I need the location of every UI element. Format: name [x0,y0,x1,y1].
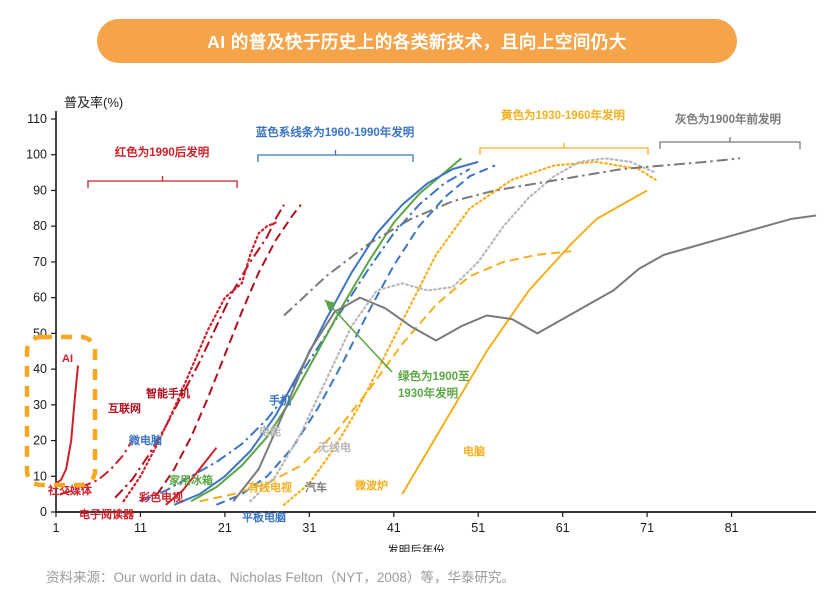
series-line-电脑 [402,190,647,494]
bracket-yellow-group [480,148,648,155]
y-tick-label: 100 [26,148,47,162]
technology-adoption-line-chart: 0102030405060708090100110111213141516171… [0,92,831,552]
x-tick-label: 71 [640,521,654,535]
series-label-平板电脑: 平板电脑 [242,510,286,524]
series-line-AI [56,366,78,484]
series-label-智能手机: 智能手机 [146,386,190,400]
series-line-微电脑 [140,169,469,501]
series-label-无线电: 无线电 [317,440,351,454]
source-footnote: 资料来源：Our world in data、Nicholas Felton（N… [46,566,515,586]
annotation-green-group-line2: 1930年发明 [398,386,458,400]
y-tick-label: 30 [33,398,47,412]
x-tick-label: 1 [53,521,60,535]
y-tick-label: 90 [33,183,47,197]
series-line-无线电 [250,158,655,501]
x-tick-label: 51 [471,521,485,535]
series-label-互联网: 互联网 [108,401,141,415]
series-label-微波炉: 微波炉 [354,478,388,492]
y-axis-title: 普及率(%) [64,95,123,110]
annotation-gray-group: 灰色为1900年前发明 [675,112,781,126]
slide-root: AI 的普及快于历史上的各类新技术，且向上空间仍大 01020304050607… [0,0,831,605]
page-title: AI 的普及快于历史上的各类新技术，且向上空间仍大 [207,29,627,54]
annotation-red-group: 红色为1990后发明 [115,145,210,159]
series-label-AI: AI [62,353,73,365]
series-line-智能手机 [157,205,301,494]
series-line-电能 [216,165,495,504]
x-tick-label: 31 [302,521,316,535]
y-tick-label: 70 [33,255,47,269]
x-tick-label: 21 [218,521,232,535]
series-label-彩色电视: 彩色电视 [138,490,183,504]
y-tick-label: 80 [33,219,47,233]
bracket-blue-group [258,155,413,162]
x-axis-title: 发明后年份 [387,543,445,552]
y-tick-label: 60 [33,291,47,305]
series-label-电能: 电能 [259,424,281,438]
y-tick-label: 0 [40,505,47,519]
series-label-有线电视: 有线电视 [248,480,292,494]
annotation-yellow-group: 黄色为1930-1960年发明 [501,108,625,122]
bracket-red-group [88,181,237,188]
y-tick-label: 110 [27,112,47,126]
series-label-微电脑: 微电脑 [128,433,162,447]
slide-title-pill: AI 的普及快于历史上的各类新技术，且向上空间仍大 [97,19,737,63]
x-tick-label: 81 [725,521,739,535]
series-line-电话 [284,158,740,315]
y-tick-label: 40 [33,362,47,376]
series-label-汽车: 汽车 [305,480,327,494]
y-tick-label: 20 [33,434,47,448]
chart-container: 0102030405060708090100110111213141516171… [0,92,831,552]
x-tick-label: 61 [556,521,570,535]
x-tick-label: 41 [387,521,401,535]
series-label-电子阅读器: 电子阅读器 [79,507,135,521]
bracket-gray-group [660,142,800,149]
series-label-手机: 手机 [269,393,291,407]
series-label-家用冰箱: 家用冰箱 [169,473,213,487]
annotation-green-group-line1: 绿色为1900至 [398,369,470,383]
y-tick-label: 10 [33,469,47,483]
series-label-电脑: 电脑 [463,444,485,458]
annotation-blue-group: 蓝色系线条为1960-1990年发明 [256,125,415,139]
x-tick-label: 11 [134,521,147,535]
